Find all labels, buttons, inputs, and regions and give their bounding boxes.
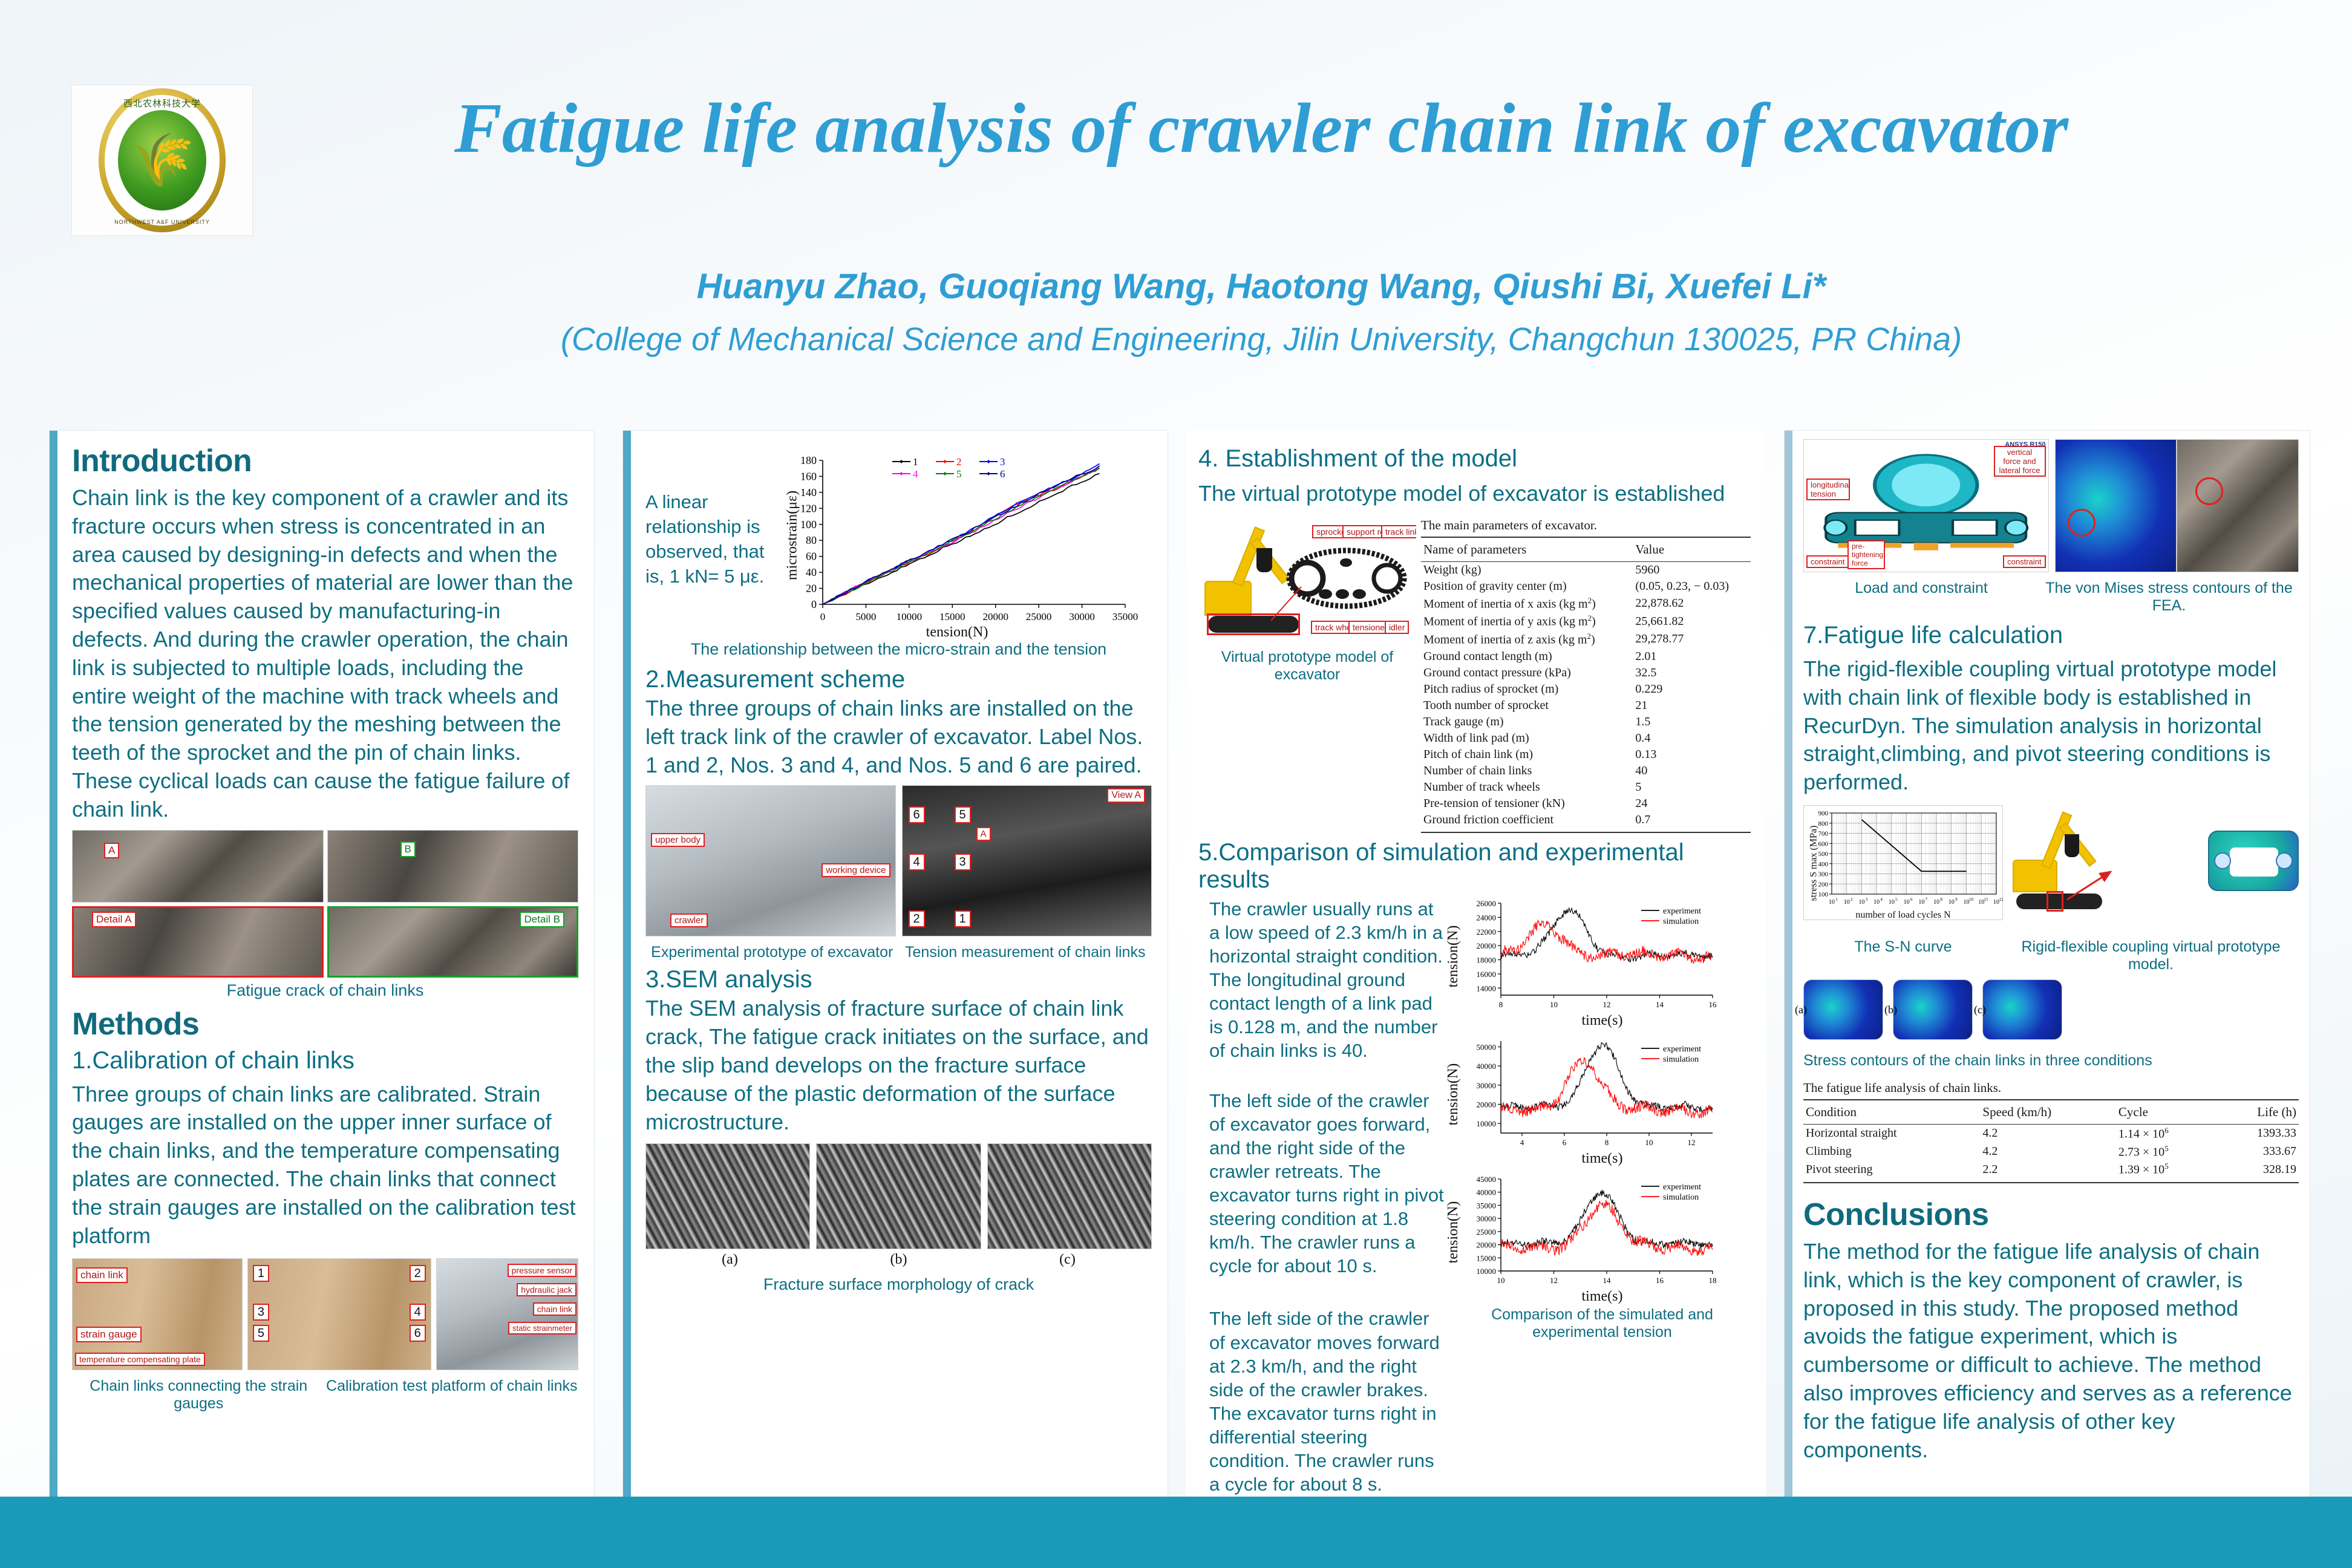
svg-text:experiment: experiment <box>1663 1183 1701 1192</box>
svg-text:10: 10 <box>1645 1138 1653 1147</box>
svg-text:10000: 10000 <box>1477 1267 1497 1276</box>
param-name: Tooth number of sprocket <box>1421 697 1633 714</box>
life-col-header: Speed (km/h) <box>1980 1100 2116 1125</box>
life-cell: 1393.33 <box>2217 1124 2299 1142</box>
sn-xlabel: number of load cycles N <box>1804 910 2002 921</box>
svg-text:8: 8 <box>1940 897 1942 902</box>
label-3: 3 <box>253 1304 269 1321</box>
param-value: 0.4 <box>1633 730 1751 746</box>
university-logo: 西北农林科技大学 🌾 NORTHWEST A&F UNIVERSITY <box>71 85 253 236</box>
table-row: Ground contact pressure (kPa)32.5 <box>1421 665 1751 681</box>
figure-fatigue-crack: A B Detail A Detail B Fatigue crack of c… <box>72 830 578 1000</box>
measurement-scheme-heading: 2.Measurement scheme <box>645 666 1152 693</box>
svg-text:20000: 20000 <box>982 611 1008 622</box>
label-1: 1 <box>253 1265 269 1282</box>
introduction-heading: Introduction <box>72 443 578 479</box>
seal-bottom-text: NORTHWEST A&F UNIVERSITY <box>99 219 226 225</box>
param-name: Number of chain links <box>1421 763 1633 779</box>
label-4: 4 <box>410 1304 426 1321</box>
linear-relationship-note: A linear relationship is observed, that … <box>645 490 776 589</box>
tag-static-strainmeter: static strainmeter <box>508 1322 577 1334</box>
svg-text:5000: 5000 <box>855 611 876 622</box>
table-row: Tooth number of sprocket21 <box>1421 697 1751 714</box>
von-mises-caption: The von Mises stress contours of the FEA… <box>2039 580 2299 615</box>
load-constraint-diagram: vertical force and lateral force longitu… <box>1803 439 2049 572</box>
svg-text:45000: 45000 <box>1477 1175 1497 1184</box>
table-row: Number of track wheels5 <box>1421 779 1751 795</box>
param-value: 1.5 <box>1633 714 1751 730</box>
label-6: 6 <box>909 806 925 823</box>
svg-text:simulation: simulation <box>1663 1055 1699 1064</box>
table-row: Moment of inertia of z axis (kg m2)29,27… <box>1421 630 1751 648</box>
label-3: 3 <box>955 854 971 871</box>
life-cell: 2.2 <box>1980 1160 2116 1183</box>
svg-text:8: 8 <box>1605 1138 1609 1147</box>
param-value: 2.01 <box>1633 648 1751 665</box>
table-row: Pre-tension of tensioner (kN)24 <box>1421 795 1751 812</box>
svg-text:25000: 25000 <box>1477 1227 1497 1236</box>
stress-contour-c <box>1982 979 2062 1040</box>
stress-label-b: (b) <box>1884 1004 1897 1016</box>
affiliation: (College of Mechanical Science and Engin… <box>260 321 2262 358</box>
life-table-body: Horizontal straight4.21.14 × 1061393.33C… <box>1803 1124 2299 1182</box>
svg-text:10: 10 <box>1918 899 1924 906</box>
tag-working-device: working device <box>822 863 890 877</box>
param-value: 25,661.82 <box>1633 612 1751 630</box>
svg-text:500: 500 <box>1818 851 1829 858</box>
column-fatigue-conclusions: vertical force and lateral force longitu… <box>1785 431 2310 1509</box>
figure-sn-and-rf: stress S max (MPa) 100200300400500600700… <box>1803 805 2299 932</box>
rigid-flexible-model-figure <box>2009 805 2299 932</box>
svg-text:40000: 40000 <box>1477 1062 1497 1071</box>
life-col-header: Life (h) <box>2217 1100 2299 1125</box>
rigid-flexible-caption: Rigid-flexible coupling virtual prototyp… <box>2003 938 2299 973</box>
figure-stress-contours: (a) (b) (c) <box>1803 979 2299 1046</box>
svg-text:10: 10 <box>1858 899 1864 906</box>
tag-chain-link-2: chain link <box>533 1302 577 1316</box>
prototype-caption: Experimental prototype of excavator <box>645 944 899 961</box>
stress-contours-caption: Stress contours of the chain links in th… <box>1803 1052 2299 1070</box>
svg-text:16: 16 <box>1656 1276 1664 1285</box>
svg-text:6: 6 <box>1910 897 1913 902</box>
label-2: 2 <box>909 910 925 927</box>
chart-p-xlabel: time(s) <box>1454 1151 1751 1167</box>
conclusions-text: The method for the fatigue life analysis… <box>1803 1238 2299 1464</box>
footer-band <box>0 1497 2352 1568</box>
real-chain-link-photo <box>2177 439 2299 572</box>
table-row: Weight (kg)5960 <box>1421 561 1751 578</box>
table-row: Pivot steering2.21.39 × 105328.19 <box>1803 1160 2299 1183</box>
svg-text:600: 600 <box>1818 840 1829 848</box>
life-cell: 1.39 × 105 <box>2116 1160 2217 1183</box>
svg-text:20000: 20000 <box>1477 1100 1497 1109</box>
svg-text:8: 8 <box>1499 1000 1503 1009</box>
tag-vertical-lateral-force: vertical force and lateral force <box>1994 446 2046 477</box>
sem-label-b: (b) <box>814 1252 983 1268</box>
tag-pressure-sensor: pressure sensor <box>508 1264 577 1277</box>
chart-strain-caption: The relationship between the micro-strai… <box>645 640 1152 659</box>
param-name: Ground contact length (m) <box>1421 648 1633 665</box>
sem-label-c: (c) <box>983 1252 1152 1268</box>
methods-heading: Methods <box>72 1006 578 1042</box>
chart-d-xlabel: time(s) <box>1454 1289 1751 1305</box>
svg-text:30000: 30000 <box>1477 1214 1497 1223</box>
poster-header: 西北农林科技大学 🌾 NORTHWEST A&F UNIVERSITY Fati… <box>0 0 2352 417</box>
svg-text:5: 5 <box>956 468 962 480</box>
svg-text:14: 14 <box>1656 1000 1664 1009</box>
param-value: 40 <box>1633 763 1751 779</box>
tag-hydraulic-jack: hydraulic jack <box>517 1283 577 1296</box>
tag-b: B <box>400 841 416 857</box>
tag-constraint-right: constraint <box>2003 555 2045 568</box>
crack-detail-a: Detail A <box>72 906 324 978</box>
model-establishment-heading: 4. Establishment of the model <box>1198 445 1751 472</box>
param-name: Ground contact pressure (kPa) <box>1421 665 1633 681</box>
svg-text:experiment: experiment <box>1663 1045 1701 1054</box>
life-cell: 328.19 <box>2217 1160 2299 1183</box>
tag-constraint-left: constraint <box>1806 555 1849 568</box>
param-name: Weight (kg) <box>1421 561 1633 578</box>
figure-virtual-prototype: sprocket support roller track link track… <box>1198 514 1751 833</box>
svg-text:7: 7 <box>1926 897 1928 902</box>
svg-text:180: 180 <box>800 454 817 466</box>
figure-fea-results: vertical force and lateral force longitu… <box>1803 439 2299 572</box>
sn-svg: 1002003004005006007008009001011021031041… <box>1804 806 2004 921</box>
svg-text:40000: 40000 <box>1477 1187 1497 1197</box>
svg-text:800: 800 <box>1818 820 1829 828</box>
svg-text:6: 6 <box>1563 1138 1567 1147</box>
svg-text:20000: 20000 <box>1477 941 1497 950</box>
comparison-chart-caption: Comparison of the simulated and experime… <box>1454 1306 1751 1341</box>
life-cell: Horizontal straight <box>1803 1124 1980 1142</box>
svg-text:10: 10 <box>1964 899 1970 906</box>
table-row: Number of chain links40 <box>1421 763 1751 779</box>
svg-text:4: 4 <box>1520 1138 1524 1147</box>
param-name: Track gauge (m) <box>1421 714 1633 730</box>
svg-text:0: 0 <box>820 611 826 622</box>
sem-image-a <box>645 1143 810 1249</box>
figure-prototype-tension: upper body working device crawler View A… <box>645 785 1152 936</box>
svg-text:26000: 26000 <box>1477 899 1497 908</box>
life-table-caption: The fatigue life analysis of chain links… <box>1803 1080 2299 1099</box>
label-6: 6 <box>410 1325 426 1342</box>
chart-p-ylabel: tension(N) <box>1445 1063 1462 1125</box>
stress-contour-b <box>1893 979 1973 1040</box>
virtual-prototype-caption: Virtual prototype model of excavator <box>1198 648 1416 684</box>
sn-curve-caption: The S-N curve <box>1803 938 2003 973</box>
param-table-body: Weight (kg)5960Position of gravity cente… <box>1421 561 1751 832</box>
load-constraint-caption: Load and constraint <box>1803 580 2039 615</box>
figure-calibration: chain link strain gauge temperature comp… <box>72 1258 578 1413</box>
svg-text:18: 18 <box>1709 1276 1717 1285</box>
svg-text:10: 10 <box>1978 899 1984 906</box>
crack-detail-b: Detail B <box>327 906 579 978</box>
conclusions-heading: Conclusions <box>1803 1197 2299 1233</box>
svg-text:10: 10 <box>1829 899 1835 906</box>
chart-strain-svg: 0204060801001201401601800500010000150002… <box>776 445 1138 638</box>
stress-label-c: (c) <box>1974 1004 1986 1016</box>
figure-sem <box>645 1143 1152 1249</box>
life-col-header: Condition <box>1803 1100 1980 1125</box>
comparison-heading: 5.Comparison of simulation and experimen… <box>1198 839 1751 893</box>
param-table-caption: The main parameters of excavator. <box>1421 518 1751 537</box>
svg-text:0: 0 <box>811 598 817 610</box>
table-row: Pitch radius of sprocket (m)0.229 <box>1421 681 1751 697</box>
crack-photo-b: B <box>327 830 579 903</box>
label-5: 5 <box>253 1325 269 1342</box>
methods-sub-calibration: 1.Calibration of chain links <box>72 1047 578 1074</box>
svg-text:10000: 10000 <box>897 611 923 622</box>
svg-text:10: 10 <box>1844 899 1850 906</box>
crack-photo-a: A <box>72 830 324 903</box>
sem-analysis-text: The SEM analysis of fracture surface of … <box>645 995 1152 1136</box>
svg-text:16: 16 <box>1709 1000 1717 1009</box>
chart-d-svg: 1000015000200002500030000350004000045000… <box>1454 1173 1720 1292</box>
column-introduction-methods: Introduction Chain link is the key compo… <box>50 431 594 1509</box>
chart-p-svg: 10000200003000040000500004681012experime… <box>1454 1035 1720 1154</box>
svg-text:30000: 30000 <box>1477 1081 1497 1090</box>
chart-tension-differential: tension(N) 10000150002000025000300003500… <box>1454 1173 1751 1292</box>
chart-strain-ylabel: microstrain(με) <box>785 491 801 580</box>
svg-text:100: 100 <box>1818 891 1829 898</box>
svg-text:10: 10 <box>1873 899 1880 906</box>
svg-text:4: 4 <box>1880 897 1883 902</box>
von-mises-contour <box>2055 439 2177 572</box>
life-cell: 1.14 × 106 <box>2116 1124 2217 1142</box>
tag-track-link: track link <box>1381 525 1416 538</box>
svg-text:3: 3 <box>1866 897 1868 902</box>
label-5: 5 <box>955 806 971 823</box>
svg-text:15000: 15000 <box>939 611 965 622</box>
svg-text:300: 300 <box>1818 871 1829 878</box>
svg-text:10000: 10000 <box>1477 1119 1497 1128</box>
param-name: Pre-tension of tensioner (kN) <box>1421 795 1633 812</box>
tag-view-a: View A <box>1107 788 1145 803</box>
life-cell: Pivot steering <box>1803 1160 1980 1183</box>
virtual-prototype-text: The virtual prototype model of excavator… <box>1198 480 1751 508</box>
tag-strain-gauge: strain gauge <box>76 1327 142 1342</box>
author-list: Huanyu Zhao, Guoqiang Wang, Haotong Wang… <box>260 266 2262 307</box>
svg-text:2: 2 <box>1851 897 1853 902</box>
svg-text:50000: 50000 <box>1477 1042 1497 1051</box>
column-model-comparison-fea: 4. Establishment of the model The virtua… <box>1186 431 1766 1509</box>
fatigue-crack-caption: Fatigue crack of chain links <box>72 981 578 1000</box>
svg-text:30000: 30000 <box>1069 611 1095 622</box>
table-row: Width of link pad (m)0.4 <box>1421 730 1751 746</box>
svg-text:900: 900 <box>1818 810 1829 817</box>
chart-h-ylabel: tension(N) <box>1445 925 1462 987</box>
chart-h-xlabel: time(s) <box>1454 1013 1751 1029</box>
life-cell: 4.2 <box>1980 1143 2116 1161</box>
param-name: Pitch of chain link (m) <box>1421 746 1633 763</box>
figure-strain-tension: A linear relationship is observed, that … <box>645 442 1152 641</box>
table-row: Pitch of chain link (m)0.13 <box>1421 746 1751 763</box>
life-cell: Climbing <box>1803 1143 1980 1161</box>
table-fatigue-life: The fatigue life analysis of chain links… <box>1803 1080 2299 1183</box>
param-value: 5960 <box>1633 561 1751 578</box>
svg-text:35000: 35000 <box>1477 1201 1497 1210</box>
calib-photo-platform: pressure sensor hydraulic jack chain lin… <box>436 1258 578 1370</box>
tag-idler: idler <box>1385 621 1409 634</box>
sem-caption: Fracture surface morphology of crack <box>645 1275 1152 1294</box>
tag-detail-b: Detail B <box>520 912 564 927</box>
param-value: 24 <box>1633 795 1751 812</box>
svg-text:1: 1 <box>913 456 918 468</box>
svg-text:15000: 15000 <box>1477 1253 1497 1263</box>
svg-text:18000: 18000 <box>1477 955 1497 964</box>
svg-text:4: 4 <box>913 468 918 480</box>
table-row: Moment of inertia of x axis (kg m2)22,87… <box>1421 595 1751 613</box>
table-excavator-parameters: The main parameters of excavator. Name o… <box>1421 518 1751 833</box>
svg-text:6: 6 <box>1000 468 1005 480</box>
table-row: Moment of inertia of y axis (kg m2)25,66… <box>1421 612 1751 630</box>
svg-text:simulation: simulation <box>1663 1193 1699 1202</box>
label-2: 2 <box>410 1265 426 1282</box>
sem-image-c <box>987 1143 1152 1249</box>
svg-text:25000: 25000 <box>1026 611 1052 622</box>
flexible-chain-link-mesh <box>2208 831 2299 891</box>
param-value: 29,278.77 <box>1633 630 1751 648</box>
measurement-scheme-text: The three groups of chain links are inst… <box>645 694 1152 779</box>
svg-text:60: 60 <box>806 550 817 563</box>
svg-text:10: 10 <box>1497 1276 1505 1285</box>
poster-canvas: 西北农林科技大学 🌾 NORTHWEST A&F UNIVERSITY Fati… <box>0 0 2352 1568</box>
param-value: 22,878.62 <box>1633 595 1751 613</box>
fatigue-life-heading: 7.Fatigue life calculation <box>1803 622 2299 649</box>
svg-text:experiment: experiment <box>1663 907 1701 916</box>
svg-text:12: 12 <box>1550 1276 1558 1285</box>
svg-text:12: 12 <box>1603 1000 1611 1009</box>
table-row: Track gauge (m)1.5 <box>1421 714 1751 730</box>
svg-text:14: 14 <box>1603 1276 1612 1285</box>
methods-calibration-text: Three groups of chain links are calibrat… <box>72 1080 578 1250</box>
comparison-text-pivot: The left side of the crawler of excavato… <box>1209 1089 1448 1278</box>
tag-crawler: crawler <box>670 913 708 927</box>
svg-text:11: 11 <box>1984 897 1988 902</box>
param-name: Position of gravity center (m) <box>1421 578 1633 595</box>
svg-text:12: 12 <box>1688 1138 1696 1147</box>
param-name: Width of link pad (m) <box>1421 730 1633 746</box>
tag-chain-link: chain link <box>76 1267 128 1283</box>
chart-d-ylabel: tension(N) <box>1445 1201 1462 1263</box>
svg-text:1: 1 <box>1835 897 1838 902</box>
highlight-circle-photo <box>2195 477 2223 505</box>
table-row: Position of gravity center (m)(0.05, 0.2… <box>1421 578 1751 595</box>
page-title: Fatigue life analysis of crawler chain l… <box>260 91 2262 166</box>
sem-analysis-heading: 3.SEM analysis <box>645 966 1152 993</box>
svg-text:9: 9 <box>1955 897 1958 902</box>
calib-photo-gauges: 1 2 3 4 5 6 <box>247 1258 431 1370</box>
life-table-head: ConditionSpeed (km/h)CycleLife (h) <box>1803 1100 2299 1125</box>
param-value: 5 <box>1633 779 1751 795</box>
chart-strain-xlabel: tension(N) <box>776 624 1138 641</box>
svg-text:700: 700 <box>1818 830 1829 837</box>
svg-text:100: 100 <box>800 518 817 531</box>
table-row: Horizontal straight4.21.14 × 1061393.33 <box>1803 1124 2299 1142</box>
svg-text:140: 140 <box>800 486 817 498</box>
param-name: Moment of inertia of y axis (kg m2) <box>1421 612 1633 630</box>
life-cell: 333.67 <box>2217 1143 2299 1161</box>
fatigue-life-text: The rigid-flexible coupling virtual prot… <box>1803 655 2299 797</box>
chart-tension-horizontal: tension(N) 14000160001800020000220002400… <box>1454 897 1751 1016</box>
comparison-text-differential: The left side of the crawler of excavato… <box>1209 1307 1448 1495</box>
sem-image-b <box>816 1143 981 1249</box>
svg-text:24000: 24000 <box>1477 913 1497 922</box>
svg-text:40: 40 <box>806 566 817 578</box>
svg-text:200: 200 <box>1818 881 1829 888</box>
label-4: 4 <box>909 854 925 871</box>
svg-text:160: 160 <box>800 470 817 482</box>
param-value: 21 <box>1633 697 1751 714</box>
photo-experimental-prototype: upper body working device crawler <box>645 785 896 936</box>
tag-a-detail: A <box>976 827 991 841</box>
photo-tension-measurement: View A 6 5 4 3 2 1 A <box>902 785 1152 936</box>
tension-measurement-caption: Tension measurement of chain links <box>899 944 1152 961</box>
param-value: 0.13 <box>1633 746 1751 763</box>
life-col-header: Cycle <box>2116 1100 2217 1125</box>
highlight-circle-fea <box>2068 509 2096 537</box>
table-row: Ground friction coefficient0.7 <box>1421 812 1751 832</box>
param-value: 32.5 <box>1633 665 1751 681</box>
svg-text:120: 120 <box>800 502 817 514</box>
life-cell: 2.73 × 105 <box>2116 1143 2217 1161</box>
svg-text:10: 10 <box>1933 899 1939 906</box>
svg-text:10: 10 <box>1904 899 1910 906</box>
param-name: Ground friction coefficient <box>1421 812 1633 832</box>
chart-tension-pivot: tension(N) 10000200003000040000500004681… <box>1454 1035 1751 1154</box>
ansys-watermark: ANSYS R150 <box>2005 441 2045 448</box>
svg-text:20000: 20000 <box>1477 1240 1497 1249</box>
life-cell: 4.2 <box>1980 1124 2116 1142</box>
calib-photo-chainlink: chain link strain gauge temperature comp… <box>72 1258 243 1370</box>
tag-a: A <box>104 843 119 858</box>
param-col-value: Value <box>1633 537 1751 562</box>
svg-text:10: 10 <box>1550 1000 1558 1009</box>
sem-label-a: (a) <box>645 1252 814 1268</box>
param-value: 0.7 <box>1633 812 1751 832</box>
param-value: 0.229 <box>1633 681 1751 697</box>
param-col-name: Name of parameters <box>1421 537 1633 562</box>
seal-top-text: 西北农林科技大学 <box>99 97 226 109</box>
university-seal-icon: 西北农林科技大学 🌾 NORTHWEST A&F UNIVERSITY <box>99 88 226 232</box>
param-name: Number of track wheels <box>1421 779 1633 795</box>
column-measurement-sem: A linear relationship is observed, that … <box>623 431 1168 1509</box>
wheat-icon: 🌾 <box>129 134 194 186</box>
calib-caption-left: Chain links connecting the strain gauges <box>72 1377 325 1413</box>
stress-contour-a <box>1803 979 1883 1040</box>
chart-sn-curve: stress S max (MPa) 100200300400500600700… <box>1803 805 2003 920</box>
label-1: 1 <box>955 910 971 927</box>
param-name: Moment of inertia of z axis (kg m2) <box>1421 630 1633 648</box>
svg-text:10: 10 <box>1969 897 1974 902</box>
table-row: Ground contact length (m)2.01 <box>1421 648 1751 665</box>
svg-text:10: 10 <box>1949 899 1955 906</box>
sn-ylabel: stress S max (MPa) <box>1808 826 1819 901</box>
tag-longitudinal-tension: longitudinal tension <box>1806 479 1850 500</box>
svg-text:10: 10 <box>1889 899 1895 906</box>
svg-text:16000: 16000 <box>1477 970 1497 979</box>
svg-text:20: 20 <box>806 583 817 595</box>
svg-text:5: 5 <box>1895 897 1898 902</box>
svg-text:12: 12 <box>1999 897 2004 902</box>
svg-text:35000: 35000 <box>1112 611 1138 622</box>
calib-caption-right: Calibration test platform of chain links <box>325 1377 579 1413</box>
svg-text:simulation: simulation <box>1663 917 1699 926</box>
stress-label-a: (a) <box>1795 1004 1807 1016</box>
svg-text:3: 3 <box>1000 456 1005 468</box>
tag-pretightening-force: pre-tightening force <box>1847 540 1885 569</box>
excavator-diagram: sprocket support roller track link track… <box>1198 514 1416 635</box>
